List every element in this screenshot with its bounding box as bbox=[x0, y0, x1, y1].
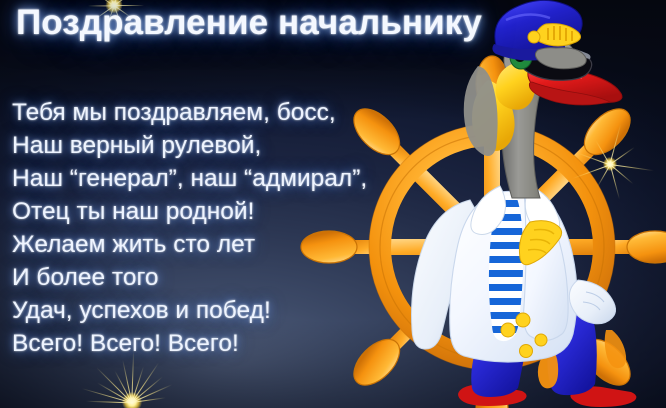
poem-line: Отец ты наш родной! bbox=[12, 195, 412, 228]
poem-line: И более того bbox=[12, 261, 412, 294]
greeting-card: Поздравление начальнику Тебя мы поздравл… bbox=[0, 0, 666, 408]
poem-line: Наш “генерал”, наш “адмирал”, bbox=[12, 162, 412, 195]
poem-line: Тебя мы поздравляем, босс, bbox=[12, 96, 412, 129]
poem-line: Удач, успехов и побед! bbox=[12, 294, 412, 327]
page-title: Поздравление начальнику bbox=[16, 2, 482, 44]
poem-line: Желаем жить сто лет bbox=[12, 228, 412, 261]
goose-head bbox=[492, 0, 622, 109]
poem-line: Всего! Всего! Всего! bbox=[12, 327, 412, 360]
poem-line: Наш верный рулевой, bbox=[12, 129, 412, 162]
poem-block: Тебя мы поздравляем, босс, Наш верный ру… bbox=[12, 96, 412, 360]
cap-cockade bbox=[528, 31, 540, 43]
